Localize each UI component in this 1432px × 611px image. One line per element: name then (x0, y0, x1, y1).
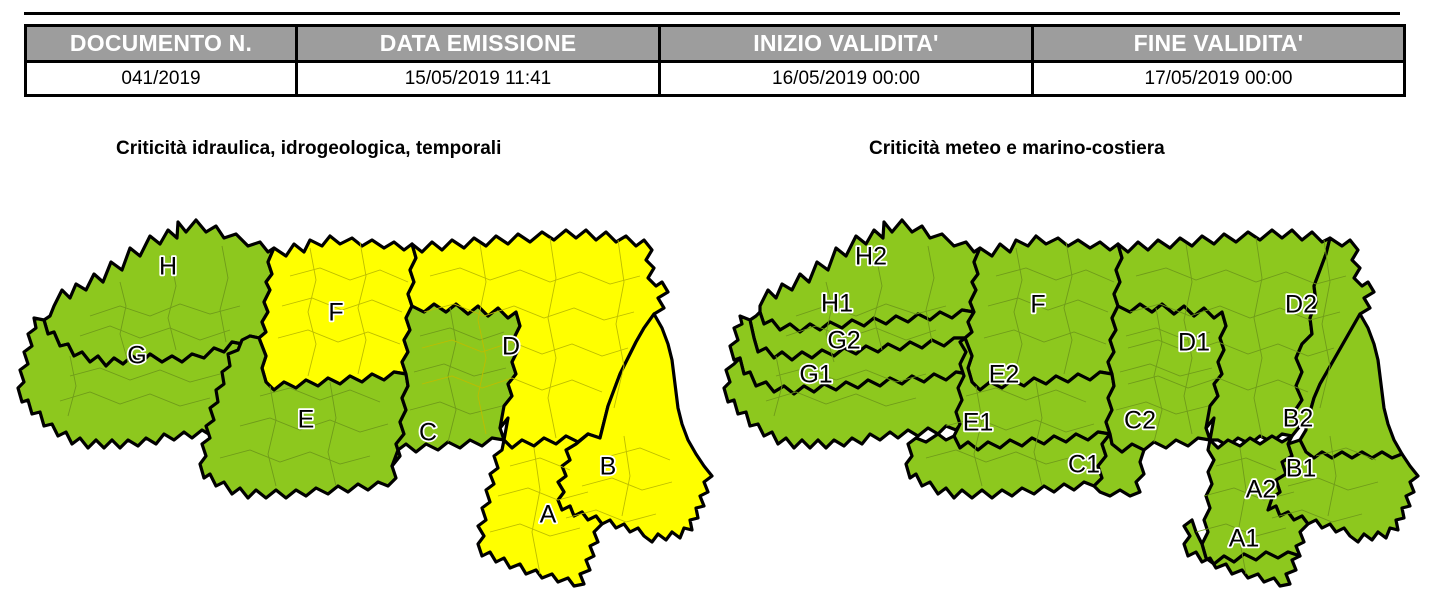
document-info-table: DOCUMENTO N. DATA EMISSIONE INIZIO VALID… (24, 24, 1406, 97)
zone-label-G1: G1 (799, 361, 832, 389)
zone-label-H1: H1 (821, 290, 853, 318)
zone-label-A2: A2 (1246, 476, 1277, 504)
zone-label-C: C (419, 419, 437, 447)
zone-C-shape (392, 304, 520, 466)
zone-label-B1: B1 (1286, 455, 1317, 483)
table-row: 041/2019 15/05/2019 11:41 16/05/2019 00:… (26, 62, 1405, 96)
header-inizio-validita: INIZIO VALIDITA' (660, 26, 1033, 62)
header-documento-n: DOCUMENTO N. (26, 26, 297, 62)
zone-label-E2: E2 (989, 361, 1020, 389)
map-criticita-meteo-marino-costiera: H2 H1 G2 G1 F E2 E1 C1 C2 D1 D2 B2 B1 A2… (716, 186, 1432, 606)
top-rule (24, 12, 1400, 15)
zone-label-H2: H2 (855, 243, 887, 271)
zone-label-D: D (502, 333, 520, 361)
zone-label-H: H (159, 253, 177, 281)
zone-label-C1: C1 (1068, 451, 1100, 479)
zone-label-G: G (127, 342, 146, 370)
zone-label-D1: D1 (1178, 329, 1210, 357)
zone-label-E1: E1 (963, 409, 994, 437)
zone-label-E: E (298, 406, 315, 434)
header-fine-validita: FINE VALIDITA' (1033, 26, 1405, 62)
zone-label-C2: C2 (1124, 407, 1156, 435)
panel-title-left: Criticità idraulica, idrogeologica, temp… (116, 138, 501, 160)
zone-label-A1: A1 (1229, 525, 1260, 553)
zone-label-G2: G2 (827, 327, 860, 355)
zone-label-D2: D2 (1285, 291, 1317, 319)
zone-label-B2: B2 (1283, 405, 1314, 433)
panel-title-right: Criticità meteo e marino-costiera (869, 138, 1165, 160)
cell-fine-validita: 17/05/2019 00:00 (1033, 62, 1405, 96)
cell-documento-n: 041/2019 (26, 62, 297, 96)
table-header-row: DOCUMENTO N. DATA EMISSIONE INIZIO VALID… (26, 26, 1405, 62)
header-data-emissione: DATA EMISSIONE (297, 26, 660, 62)
map-criticita-idraulica: H G F E C D B A (10, 186, 726, 606)
zone-label-F: F (1030, 291, 1045, 319)
zone-label-F: F (328, 299, 343, 327)
cell-inizio-validita: 16/05/2019 00:00 (660, 62, 1033, 96)
cell-data-emissione: 15/05/2019 11:41 (297, 62, 660, 96)
zone-label-A: A (540, 501, 557, 529)
zone-label-B: B (600, 453, 617, 481)
